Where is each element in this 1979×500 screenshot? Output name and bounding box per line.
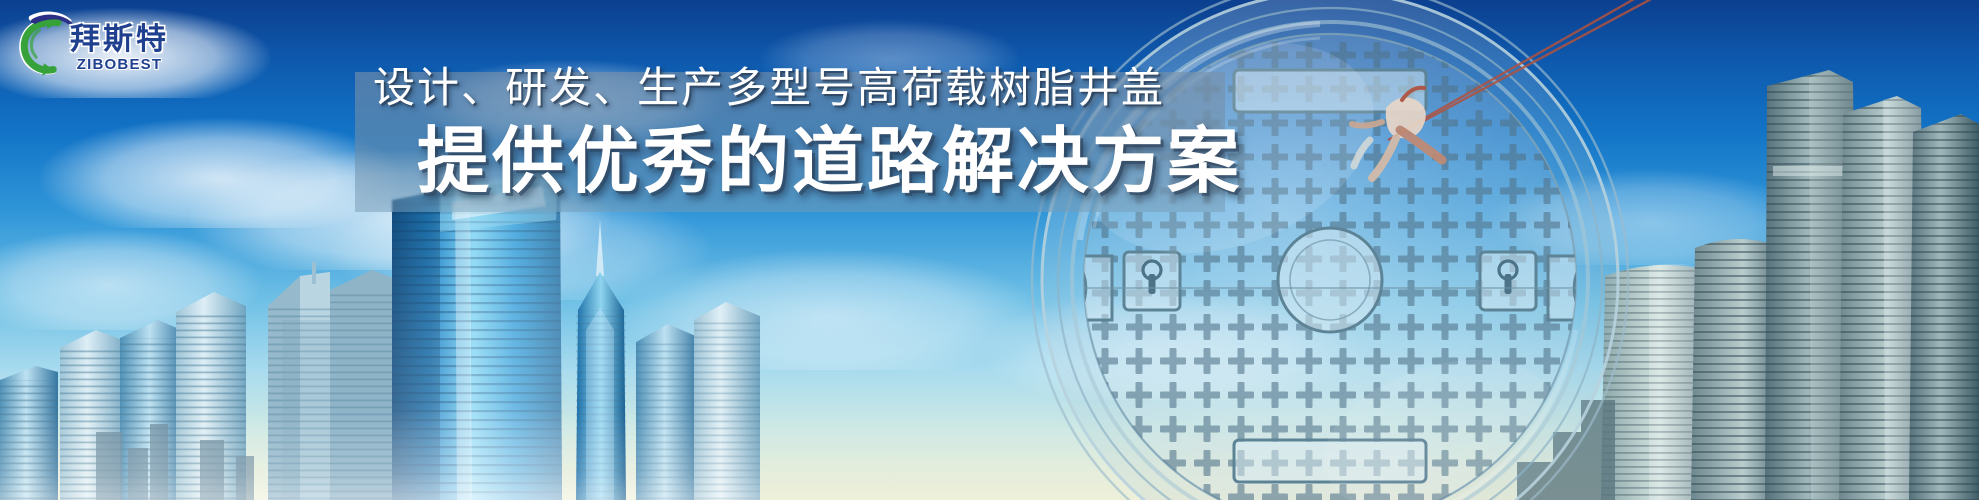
headline-block: 设计、研发、生产多型号高荷载树脂井盖 提供优秀的道路解决方案 (355, 60, 1435, 208)
headline-line-2: 提供优秀的道路解决方案 (355, 116, 1435, 208)
headline-line-1: 设计、研发、生产多型号高荷载树脂井盖 (355, 60, 1435, 116)
logo-company-name-cn: 拜斯特 (70, 24, 169, 56)
cloud-shape (0, 230, 260, 330)
company-logo[interactable]: 拜斯特 ZIBOBEST (8, 4, 178, 86)
logo-company-name-en: ZIBOBEST (70, 56, 169, 73)
hero-banner: 设计、研发、生产多型号高荷载树脂井盖 提供优秀的道路解决方案 拜斯特 ZIBOB… (0, 0, 1979, 500)
city-skyline-right (1509, 70, 1979, 500)
cloud-shape (980, 290, 1360, 400)
cloud-shape (40, 118, 400, 228)
logo-text-wrap: 拜斯特 ZIBOBEST (70, 24, 169, 73)
cloud-shape (1490, 170, 1810, 265)
cloud-shape (620, 250, 1040, 370)
